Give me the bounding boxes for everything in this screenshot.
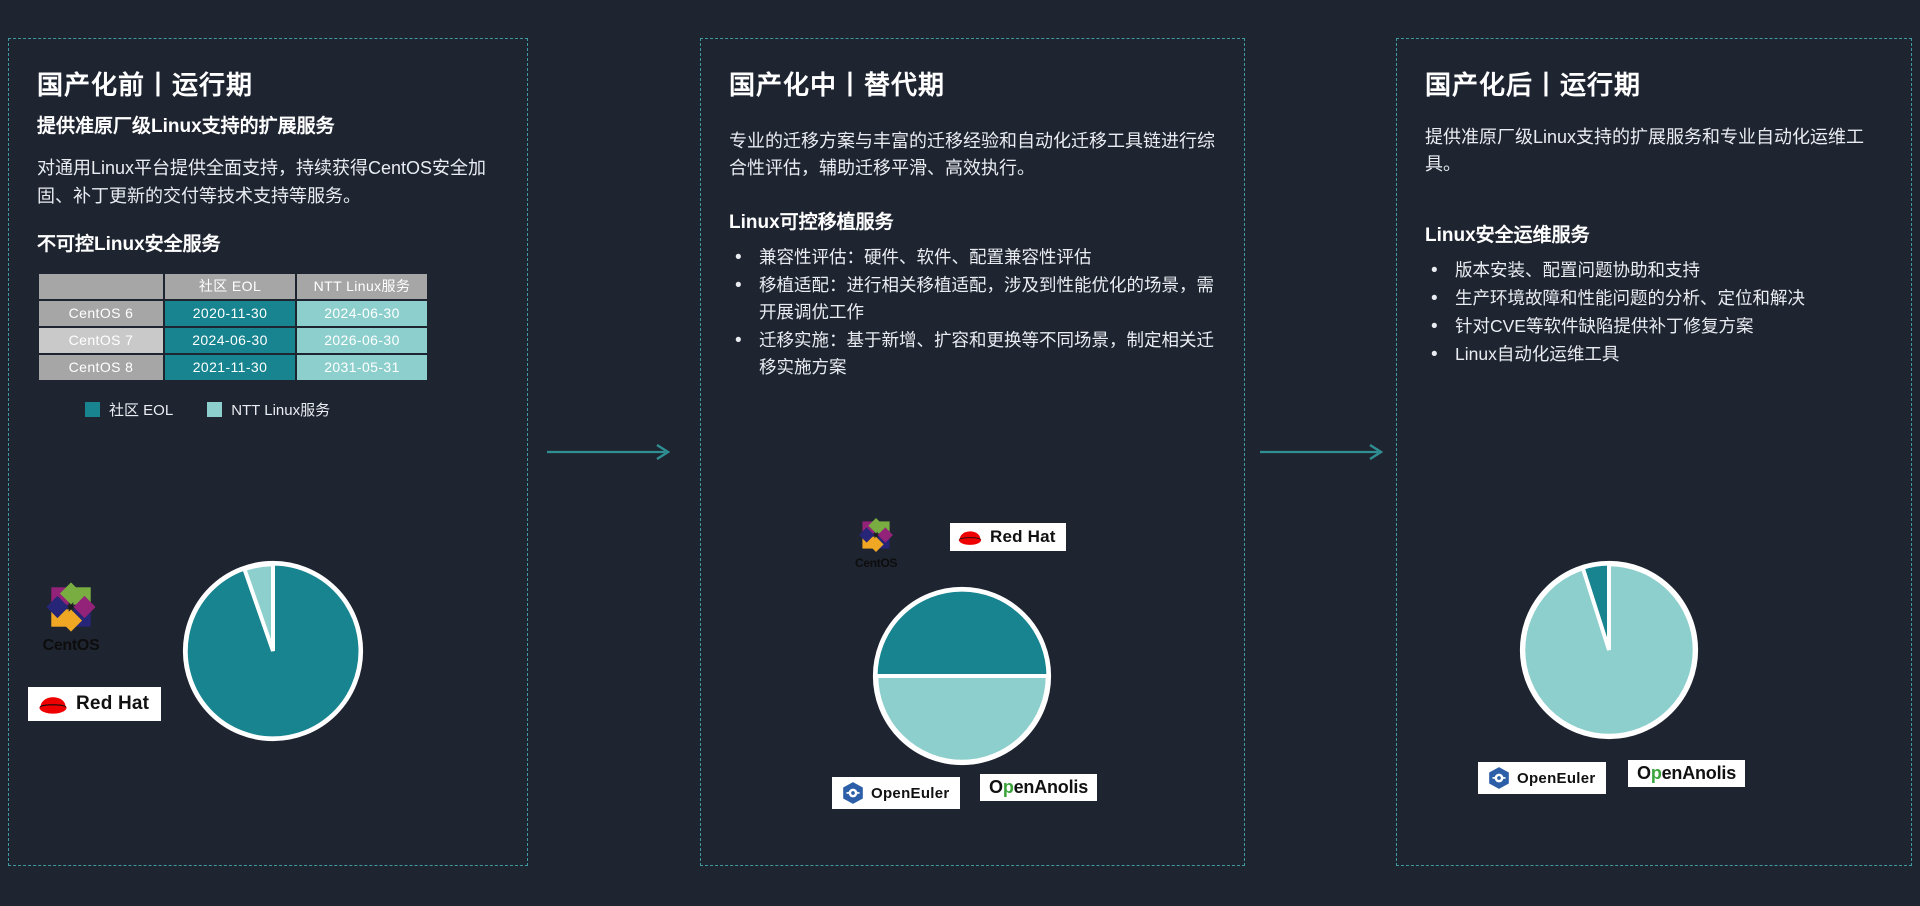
openanolis-o: O: [1637, 763, 1651, 783]
openeuler-logo: OpenEuler: [1478, 762, 1606, 794]
panel-before-title: 国产化前丨运行期: [37, 69, 499, 102]
table-row: CentOS 8 2021-11-30 2031-05-31: [39, 355, 427, 380]
arrow-before-to-during: [545, 440, 680, 464]
legend-item-ntt: NTT Linux服务: [207, 399, 330, 420]
openanolis-logo-text: OpenAnolis: [989, 777, 1088, 798]
openanolis-o: O: [989, 777, 1003, 797]
panel-during-section: Linux可控移植服务: [729, 211, 1216, 236]
panel-during-title: 国产化中丨替代期: [729, 69, 1216, 102]
legend-label: 社区 EOL: [109, 399, 173, 420]
panel-after-body: 提供准原厂级Linux支持的扩展服务和专业自动化运维工具。: [1425, 124, 1883, 180]
list-item: 移植适配：进行相关移植适配，涉及到性能优化的场景，需开展调优工作: [729, 272, 1216, 326]
redhat-logo-text: Red Hat: [990, 527, 1056, 547]
table-header-blank: [39, 274, 163, 299]
openanolis-rest: enAnolis: [1662, 763, 1736, 783]
openeuler-icon: [842, 781, 864, 805]
list-item: 迁移实施：基于新增、扩容和更换等不同场景，制定相关迁移实施方案: [729, 327, 1216, 381]
panel-after-bullets: 版本安装、配置问题协助和支持 生产环境故障和性能问题的分析、定位和解决 针对CV…: [1425, 257, 1883, 369]
arrow-during-to-after: [1258, 440, 1393, 464]
pie-chart-after: [1519, 560, 1699, 740]
table-row: CentOS 7 2024-06-30 2026-06-30: [39, 328, 427, 353]
panel-before-section: 不可控Linux安全服务: [37, 233, 499, 258]
table-row: CentOS 6 2020-11-30 2024-06-30: [39, 301, 427, 326]
redhat-logo: Red Hat: [950, 523, 1066, 551]
eol-table: 社区 EOL NTT Linux服务 CentOS 6 2020-11-30 2…: [37, 272, 429, 382]
list-item: 针对CVE等软件缺陷提供补丁修复方案: [1425, 313, 1883, 340]
pie-chart-during: [872, 586, 1052, 766]
redhat-icon: [956, 527, 984, 547]
openanolis-p: p: [1651, 763, 1662, 783]
centos-icon: [856, 515, 896, 555]
redhat-logo-text: Red Hat: [76, 693, 149, 715]
table-header-row: 社区 EOL NTT Linux服务: [39, 274, 427, 299]
panel-before-body: 对通用Linux平台提供全面支持，持续获得CentOS安全加固、补丁更新的交付等…: [37, 155, 499, 211]
centos-logo: CentOS: [42, 578, 100, 655]
table-cell-name: CentOS 6: [39, 301, 163, 326]
openanolis-logo-text: OpenAnolis: [1637, 763, 1736, 784]
centos-icon: [42, 578, 100, 636]
legend-label: NTT Linux服务: [231, 399, 330, 420]
table-cell-name: CentOS 7: [39, 328, 163, 353]
table-cell-eol: 2024-06-30: [165, 328, 295, 353]
list-item: Linux自动化运维工具: [1425, 341, 1883, 368]
panel-after-title: 国产化后丨运行期: [1425, 69, 1883, 102]
list-item: 兼容性评估：硬件、软件、配置兼容性评估: [729, 244, 1216, 271]
openeuler-logo: OpenEuler: [832, 777, 960, 809]
table-cell-ntt: 2031-05-31: [297, 355, 427, 380]
openanolis-logo: OpenAnolis: [1628, 760, 1745, 787]
centos-logo: CentOS: [855, 515, 897, 570]
table-cell-ntt: 2024-06-30: [297, 301, 427, 326]
redhat-logo: Red Hat: [28, 687, 161, 721]
table-cell-ntt: 2026-06-30: [297, 328, 427, 353]
openeuler-logo-text: OpenEuler: [1517, 770, 1596, 787]
table-cell-name: CentOS 8: [39, 355, 163, 380]
table-header-eol: 社区 EOL: [165, 274, 295, 299]
slide-canvas: 国产化前丨运行期 提供准原厂级Linux支持的扩展服务 对通用Linux平台提供…: [0, 0, 1920, 906]
panel-after: 国产化后丨运行期 提供准原厂级Linux支持的扩展服务和专业自动化运维工具。 L…: [1396, 38, 1912, 866]
openanolis-logo: OpenAnolis: [980, 774, 1097, 801]
legend-swatch-icon: [85, 402, 100, 417]
table-cell-eol: 2021-11-30: [165, 355, 295, 380]
pie-chart-before: [182, 560, 364, 742]
table-cell-eol: 2020-11-30: [165, 301, 295, 326]
panel-during-body: 专业的迁移方案与丰富的迁移经验和自动化迁移工具链进行综合性评估，辅助迁移平滑、高…: [729, 128, 1216, 184]
chart-legend: 社区 EOL NTT Linux服务: [37, 399, 499, 420]
panel-after-section: Linux安全运维服务: [1425, 224, 1883, 249]
table-header-ntt: NTT Linux服务: [297, 274, 427, 299]
list-item: 生产环境故障和性能问题的分析、定位和解决: [1425, 285, 1883, 312]
centos-logo-text: CentOS: [43, 637, 100, 655]
openanolis-rest: enAnolis: [1014, 777, 1088, 797]
legend-swatch-icon: [207, 402, 222, 417]
openeuler-logo-text: OpenEuler: [871, 785, 950, 802]
redhat-icon: [36, 692, 70, 716]
centos-logo-text: CentOS: [855, 556, 897, 570]
panel-before-subtitle: 提供准原厂级Linux支持的扩展服务: [37, 114, 499, 140]
openeuler-icon: [1488, 766, 1510, 790]
list-item: 版本安装、配置问题协助和支持: [1425, 257, 1883, 284]
panel-during-bullets: 兼容性评估：硬件、软件、配置兼容性评估 移植适配：进行相关移植适配，涉及到性能优…: [729, 244, 1216, 382]
openanolis-p: p: [1003, 777, 1014, 797]
legend-item-eol: 社区 EOL: [85, 399, 173, 420]
